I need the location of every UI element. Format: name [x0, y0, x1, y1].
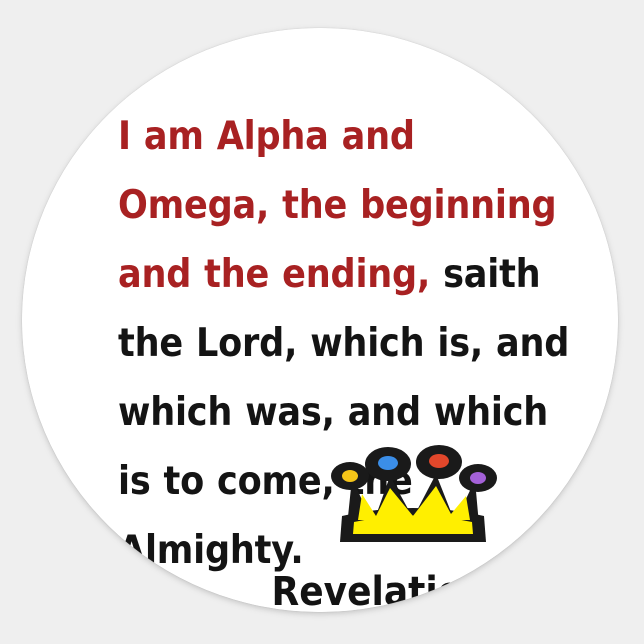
jewel-left-center [378, 456, 398, 470]
sticker-face: I am Alpha and Omega, the beginning and … [22, 28, 618, 612]
jewel-far-right [470, 472, 486, 484]
jewel-right-center [429, 454, 449, 468]
jewel-far-left [342, 470, 358, 482]
round-sticker[interactable]: I am Alpha and Omega, the beginning and … [22, 28, 618, 612]
sticker-preview-canvas: I am Alpha and Omega, the beginning and … [0, 0, 644, 644]
crown-icon [328, 438, 498, 550]
verse-reference: Revelation 1:8 [202, 569, 488, 612]
